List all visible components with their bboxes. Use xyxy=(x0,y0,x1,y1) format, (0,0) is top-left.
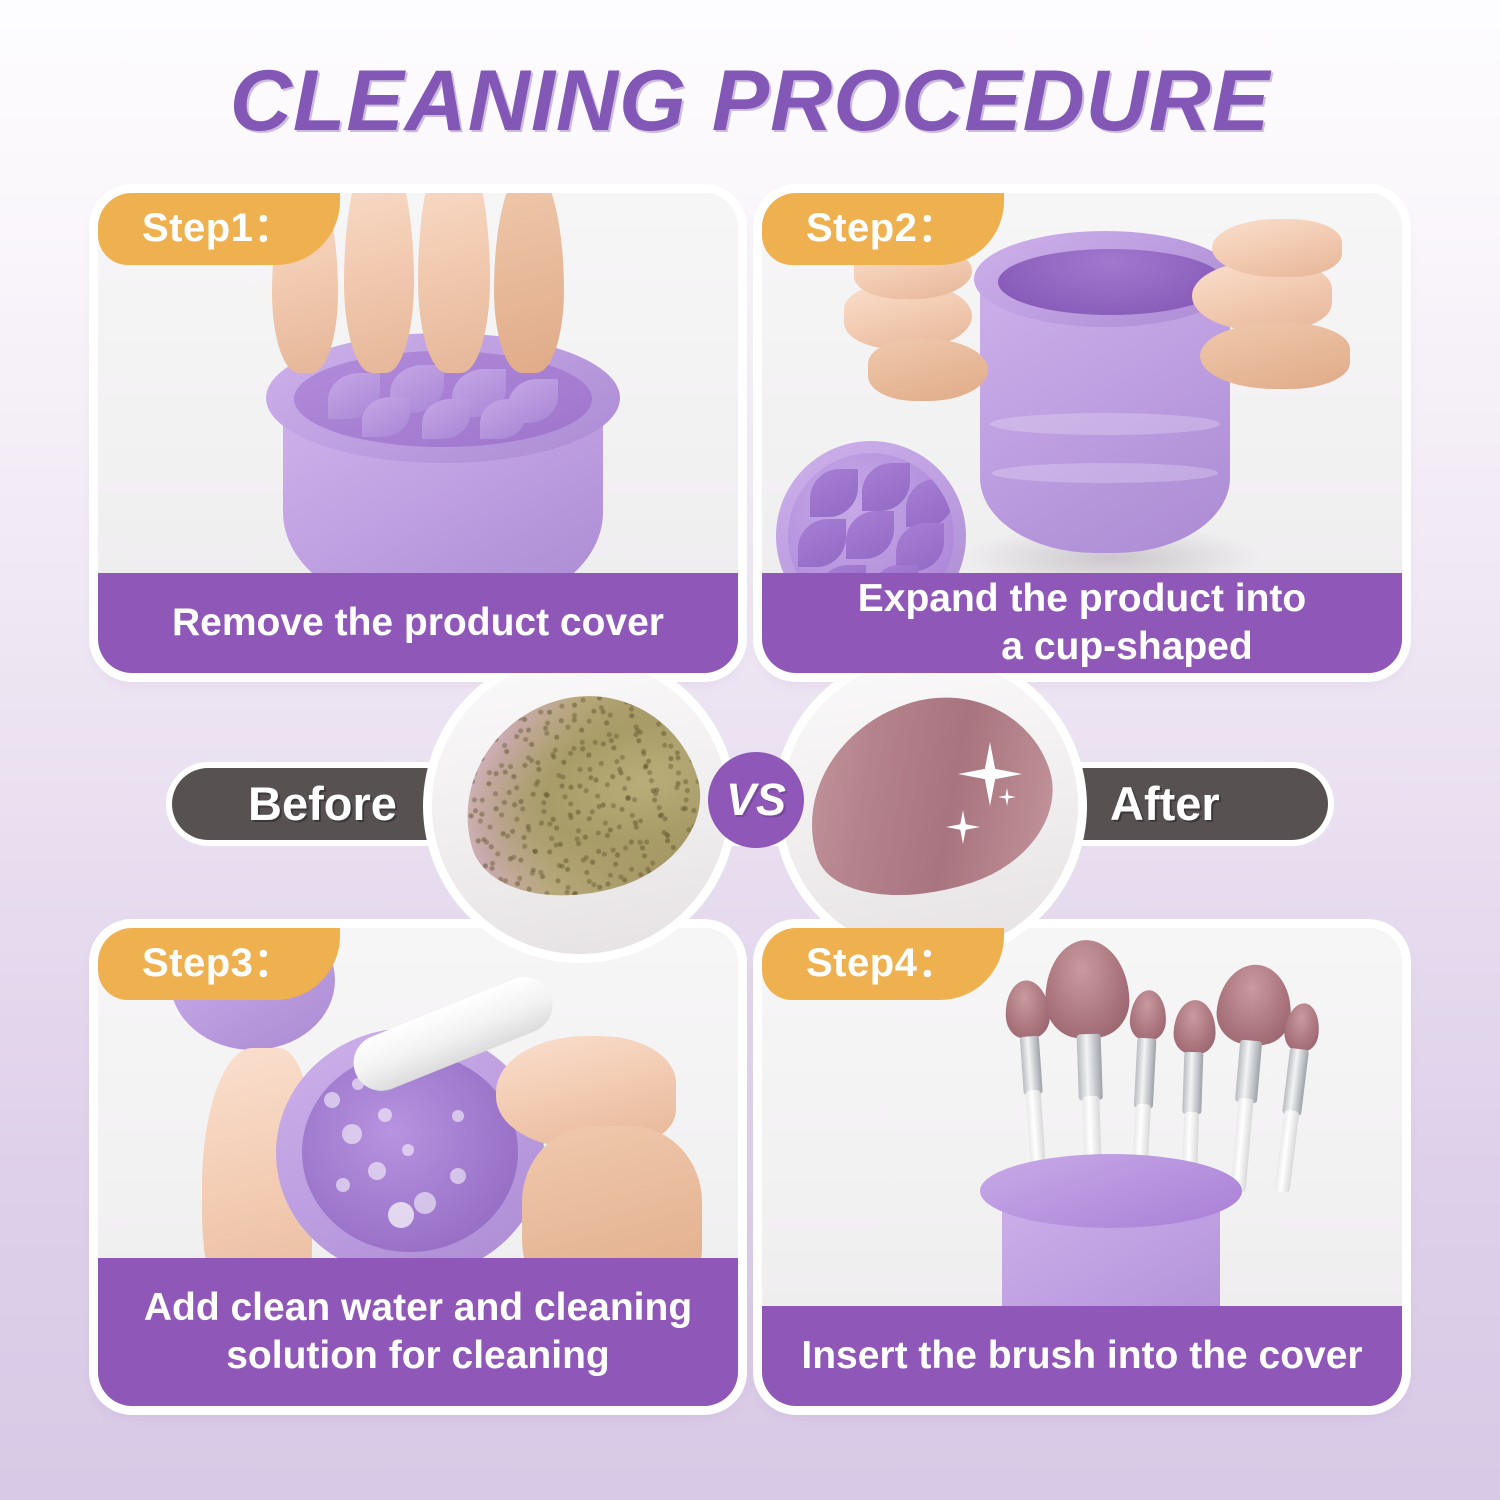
step-card-3: Step3： Add clean water and cleaning solu… xyxy=(98,928,738,1406)
soapy-water xyxy=(302,1052,518,1252)
bubble xyxy=(324,1092,340,1108)
step-3-badge: Step3： xyxy=(98,928,340,1000)
step-card-2: Step2： Expand the product into a cup-sha… xyxy=(762,193,1402,673)
step-1-badge: Step1： xyxy=(98,193,340,265)
brush-holder-lid xyxy=(980,1154,1242,1228)
finger xyxy=(1200,323,1350,389)
before-label: Before xyxy=(248,768,397,840)
step-2-caption: Expand the product into a cup-shaped xyxy=(762,573,1402,673)
bubble xyxy=(368,1162,386,1180)
step-card-1: Step1： Remove the product cover xyxy=(98,193,738,673)
finger xyxy=(868,339,988,401)
brush-ferrule xyxy=(1182,1052,1203,1115)
brush-bristles xyxy=(1282,1001,1322,1053)
brush-ferrule xyxy=(1077,1034,1103,1101)
after-photo xyxy=(782,658,1078,954)
cup-ridge xyxy=(992,463,1218,483)
caption-line: solution for cleaning xyxy=(144,1332,692,1380)
step-2-badge: Step2： xyxy=(762,193,1004,265)
brush-ferrule xyxy=(1020,1036,1043,1095)
caption-line: Remove the product cover xyxy=(172,599,664,647)
bubble xyxy=(388,1202,414,1228)
before-photo xyxy=(432,658,728,954)
step-4-badge: Step4： xyxy=(762,928,1004,1000)
caption-line: Expand the product into xyxy=(858,575,1306,623)
cup-ridge xyxy=(990,413,1220,435)
bubble xyxy=(414,1192,436,1214)
bubble xyxy=(402,1144,414,1156)
step-4-caption: Insert the brush into the cover xyxy=(762,1306,1402,1406)
bubble xyxy=(336,1178,350,1192)
lid-petal xyxy=(896,523,944,571)
lid-petal xyxy=(846,511,894,559)
step-card-4: Step4： Insert the brush into the cover xyxy=(762,928,1402,1406)
thumb xyxy=(1212,219,1342,277)
bubble xyxy=(452,1110,464,1122)
bubble xyxy=(450,1168,466,1184)
bubble xyxy=(342,1124,362,1144)
lid-petal xyxy=(798,519,846,567)
collapsible-cup xyxy=(980,223,1230,553)
bubble xyxy=(378,1108,392,1122)
page-title: CLEANING PROCEDURE xyxy=(0,52,1500,151)
brush-ferrule xyxy=(1235,1040,1262,1104)
step-1-caption: Remove the product cover xyxy=(98,573,738,673)
lid-petal xyxy=(906,479,954,527)
brush-bristles xyxy=(1129,989,1168,1041)
caption-line: a cup-shaped xyxy=(858,623,1306,671)
brush-ferrule xyxy=(1134,1038,1157,1109)
caption-line: Insert the brush into the cover xyxy=(801,1332,1362,1380)
infographic-page: CLEANING PROCEDURE xyxy=(0,0,1500,1500)
lid-petal xyxy=(862,463,910,511)
cup-interior xyxy=(998,249,1224,315)
vs-badge: VS xyxy=(708,752,804,848)
step-3-caption: Add clean water and cleaning solution fo… xyxy=(98,1258,738,1406)
brush-handle xyxy=(1275,1110,1300,1193)
finger xyxy=(418,193,490,373)
finger xyxy=(494,193,564,373)
caption-line: Add clean water and cleaning xyxy=(144,1284,692,1332)
finger xyxy=(344,193,414,373)
lid-petal xyxy=(810,469,858,517)
after-label: After xyxy=(1110,768,1220,840)
brush-ferrule xyxy=(1282,1048,1309,1116)
